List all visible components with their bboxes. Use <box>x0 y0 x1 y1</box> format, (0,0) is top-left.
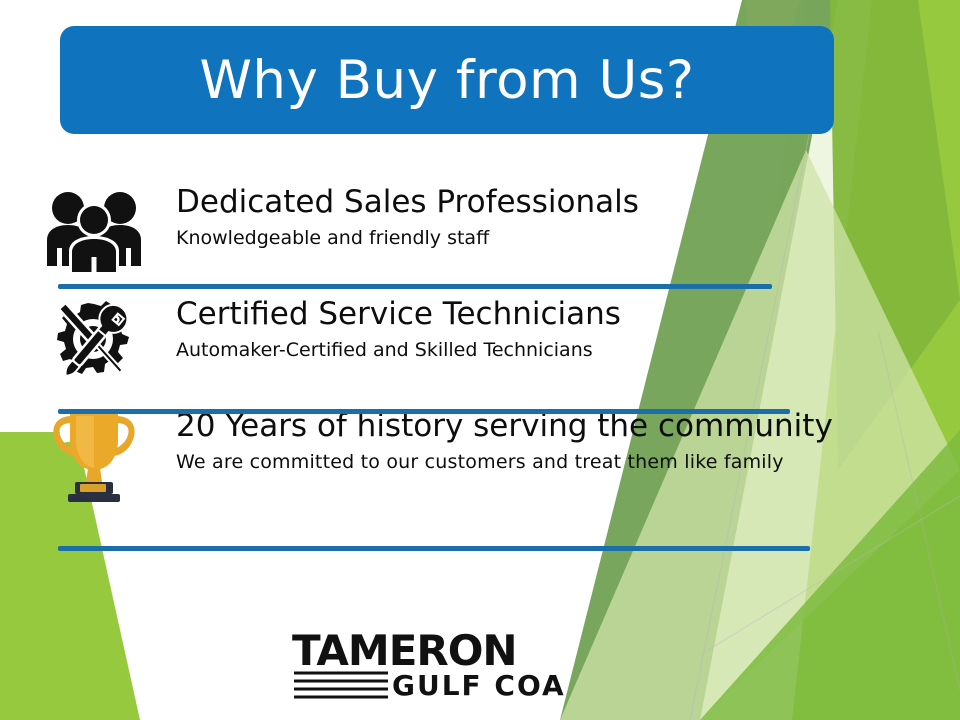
feature-subtitle: We are committed to our customers and tr… <box>176 451 810 474</box>
feature-row: 20 Years of history serving the communit… <box>0 400 960 512</box>
feature-divider <box>58 409 790 414</box>
feature-row: Dedicated Sales Professionals Knowledgea… <box>0 176 960 288</box>
hairline-2 <box>700 496 960 655</box>
logo-tagline: GULF COAST <box>392 669 564 699</box>
logo-tagline-text: GULF COAST <box>292 699 293 700</box>
feature-row: Certified Service Technicians Automaker-… <box>0 288 960 400</box>
feature-text-block: Certified Service Technicians Automaker-… <box>176 296 810 361</box>
feature-text-block: Dedicated Sales Professionals Knowledgea… <box>176 184 810 249</box>
tameron-gulf-coast-logo: TAMERON GULF COAST TAMERON GULF COAST <box>292 627 564 699</box>
page-title: Why Buy from Us? <box>199 54 694 107</box>
feature-text-block: 20 Years of history serving the communit… <box>176 408 810 473</box>
feature-subtitle: Knowledgeable and friendly staff <box>176 227 810 250</box>
feature-title: Dedicated Sales Professionals <box>176 184 810 221</box>
title-banner: Why Buy from Us? <box>60 26 834 134</box>
people-group-icon <box>42 182 146 278</box>
feature-list: Dedicated Sales Professionals Knowledgea… <box>0 176 960 512</box>
feature-divider <box>58 284 772 289</box>
feature-divider <box>58 546 810 551</box>
logo-speed-lines <box>294 673 388 697</box>
wrench-gear-screwdriver-icon <box>42 294 146 390</box>
feature-subtitle: Automaker-Certified and Skilled Technici… <box>176 339 810 362</box>
feature-title: Certified Service Technicians <box>176 296 810 333</box>
slide: Why Buy from Us? <box>0 0 960 720</box>
logo-name-text: TAMERON <box>292 699 293 700</box>
logo-wordmark: TAMERON <box>292 627 517 675</box>
trophy-icon <box>42 406 146 502</box>
